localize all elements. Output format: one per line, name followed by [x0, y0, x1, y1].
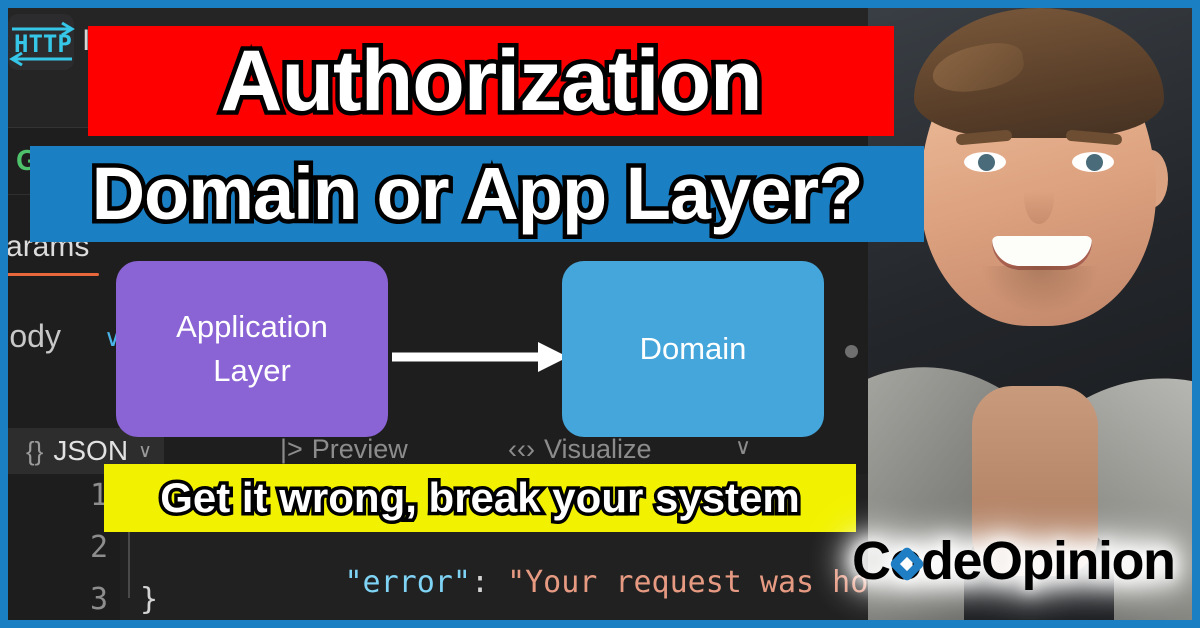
subtitle-text: Get it wrong, break your system — [160, 477, 800, 519]
title-banner-primary: Authorization — [88, 26, 894, 136]
diagram-node-application-layer: Application Layer — [116, 261, 388, 437]
diagram-arrow — [392, 340, 572, 379]
title-line-1: Authorization — [220, 38, 761, 124]
title-line-2: Domain or App Layer? — [92, 157, 863, 231]
diagram-node-domain: Domain — [562, 261, 824, 437]
node-label-line1: Domain — [640, 327, 747, 371]
codeopinion-logo: CodeOpinion — [852, 534, 1174, 588]
node-label-line1: Application — [176, 305, 328, 349]
node-label-line2: Layer — [176, 349, 328, 393]
title-banner-secondary: Domain or App Layer? — [30, 146, 924, 242]
thumbnail-canvas: HTTP Id S Sh G Params — [0, 0, 1200, 628]
subtitle-banner: Get it wrong, break your system — [104, 464, 856, 532]
